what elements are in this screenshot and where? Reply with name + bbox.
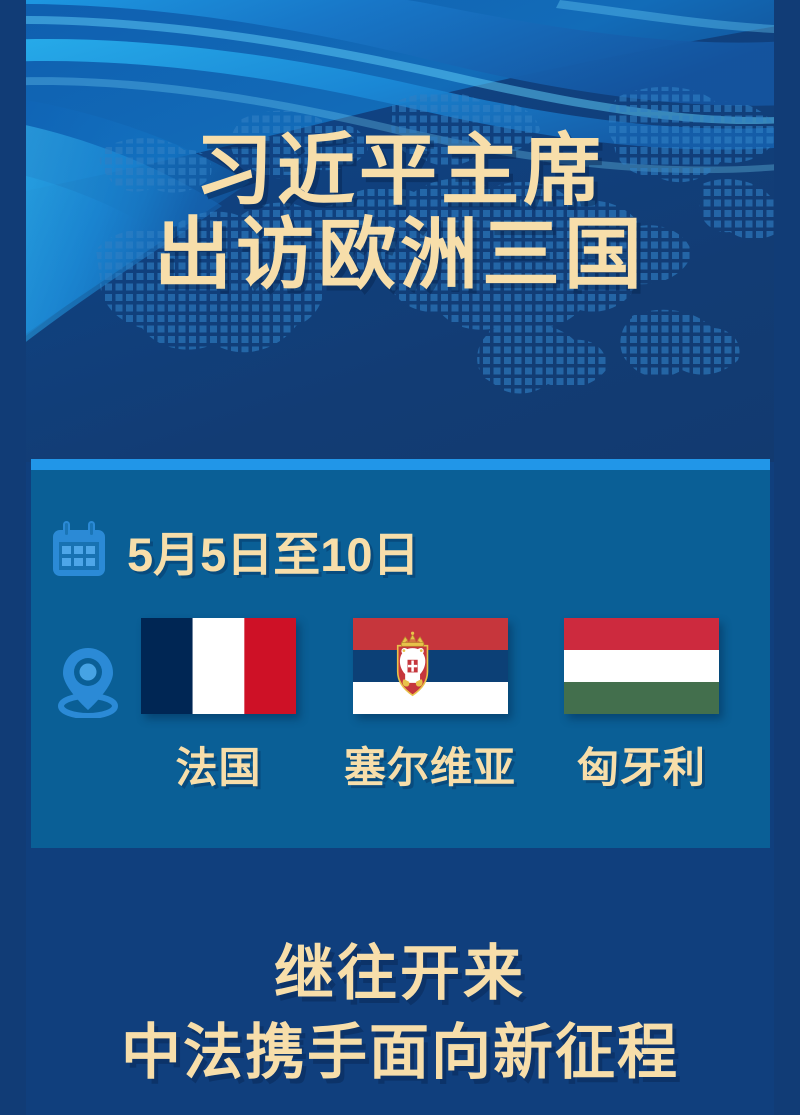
accent-divider-bar <box>31 459 770 470</box>
country-france: 法国 <box>141 618 296 795</box>
title-line-1: 习近平主席 <box>0 128 800 212</box>
poster-slogan: 继往开来 中法携手面向新征程 <box>0 940 800 1086</box>
country-label-hungary: 匈牙利 <box>577 734 706 795</box>
title-line-2: 出访欧洲三国 <box>0 212 800 296</box>
poster-title: 习近平主席 出访欧洲三国 <box>0 128 800 296</box>
location-pin-icon-svg <box>57 644 119 718</box>
hungary-flag-svg <box>564 618 719 714</box>
country-serbia: 塞尔维亚 <box>344 618 516 795</box>
calendar-icon-svg <box>48 519 110 581</box>
serbia-flag-svg <box>353 618 508 714</box>
flag-list: 法国 <box>141 618 770 818</box>
france-flag <box>141 618 296 714</box>
destinations-row: 法国 <box>31 618 770 818</box>
country-label-serbia: 塞尔维亚 <box>344 734 516 795</box>
date-text: 5月5日至10日 <box>127 516 420 585</box>
country-label-france: 法国 <box>175 734 261 795</box>
france-flag-svg <box>141 618 296 714</box>
hungary-flag <box>564 618 719 714</box>
country-hungary: 匈牙利 <box>564 618 719 795</box>
serbia-flag <box>353 618 508 714</box>
calendar-icon <box>31 519 127 581</box>
date-row: 5月5日至10日 <box>31 508 770 592</box>
location-pin-icon <box>49 644 127 718</box>
header-background: 习近平主席 出访欧洲三国 <box>0 0 800 462</box>
infographic-poster: 习近平主席 出访欧洲三国 5月5日至10日 <box>0 0 800 1115</box>
slogan-line-2: 中法携手面向新征程 <box>0 1019 800 1086</box>
slogan-line-1: 继往开来 <box>0 940 800 1007</box>
